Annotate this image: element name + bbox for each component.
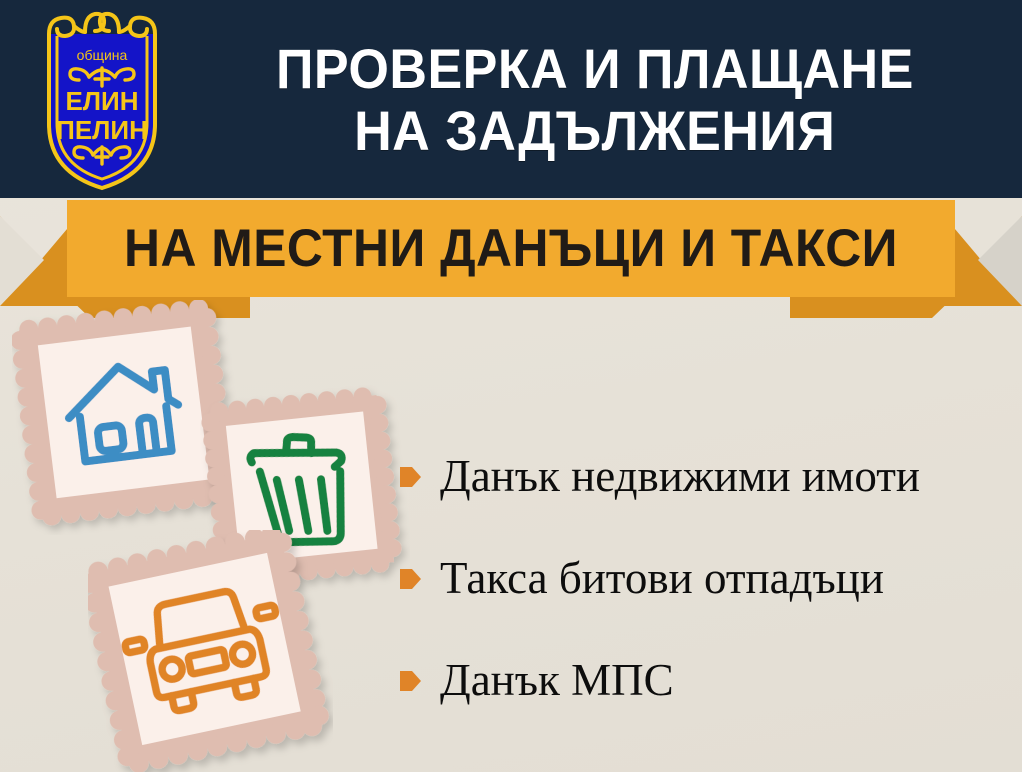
header-bar: община ЕЛИН ПЕЛИН <box>0 0 1022 198</box>
list-item[interactable]: Данък недвижими имоти <box>400 425 1022 527</box>
logo-line2: ПЕЛИН <box>56 115 148 145</box>
list-item-label: Такса битови отпадъци <box>440 553 884 603</box>
logo-line1: ЕЛИН <box>65 86 138 116</box>
ribbon-text: НА МЕСТНИ ДАНЪЦИ И ТАКСИ <box>94 200 929 297</box>
list-item-label: Данък недвижими имоти <box>440 451 920 501</box>
title-line-2: НА ЗАДЪЛЖЕНИЯ <box>354 100 835 162</box>
title-line-1: ПРОВЕРКА И ПЛАЩАНЕ <box>276 38 914 100</box>
stamp-card-car <box>88 530 333 772</box>
poster-canvas: община ЕЛИН ПЕЛИН <box>0 0 1022 772</box>
arrow-bullet-icon <box>400 668 422 694</box>
tax-types-list: Данък недвижими имоти Такса битови отпад… <box>400 425 1022 731</box>
arrow-bullet-icon <box>400 566 422 592</box>
elin-pelin-coat-of-arms-logo: община ЕЛИН ПЕЛИН <box>29 6 175 192</box>
list-item[interactable]: Данък МПС <box>400 629 1022 731</box>
poster-title: ПРОВЕРКА И ПЛАЩАНЕ НА ЗАДЪЛЖЕНИЯ <box>180 14 1010 186</box>
arrow-bullet-icon <box>400 464 422 490</box>
logo-small-text: община <box>77 47 128 63</box>
list-item-label: Данък МПС <box>440 655 674 705</box>
list-item[interactable]: Такса битови отпадъци <box>400 527 1022 629</box>
